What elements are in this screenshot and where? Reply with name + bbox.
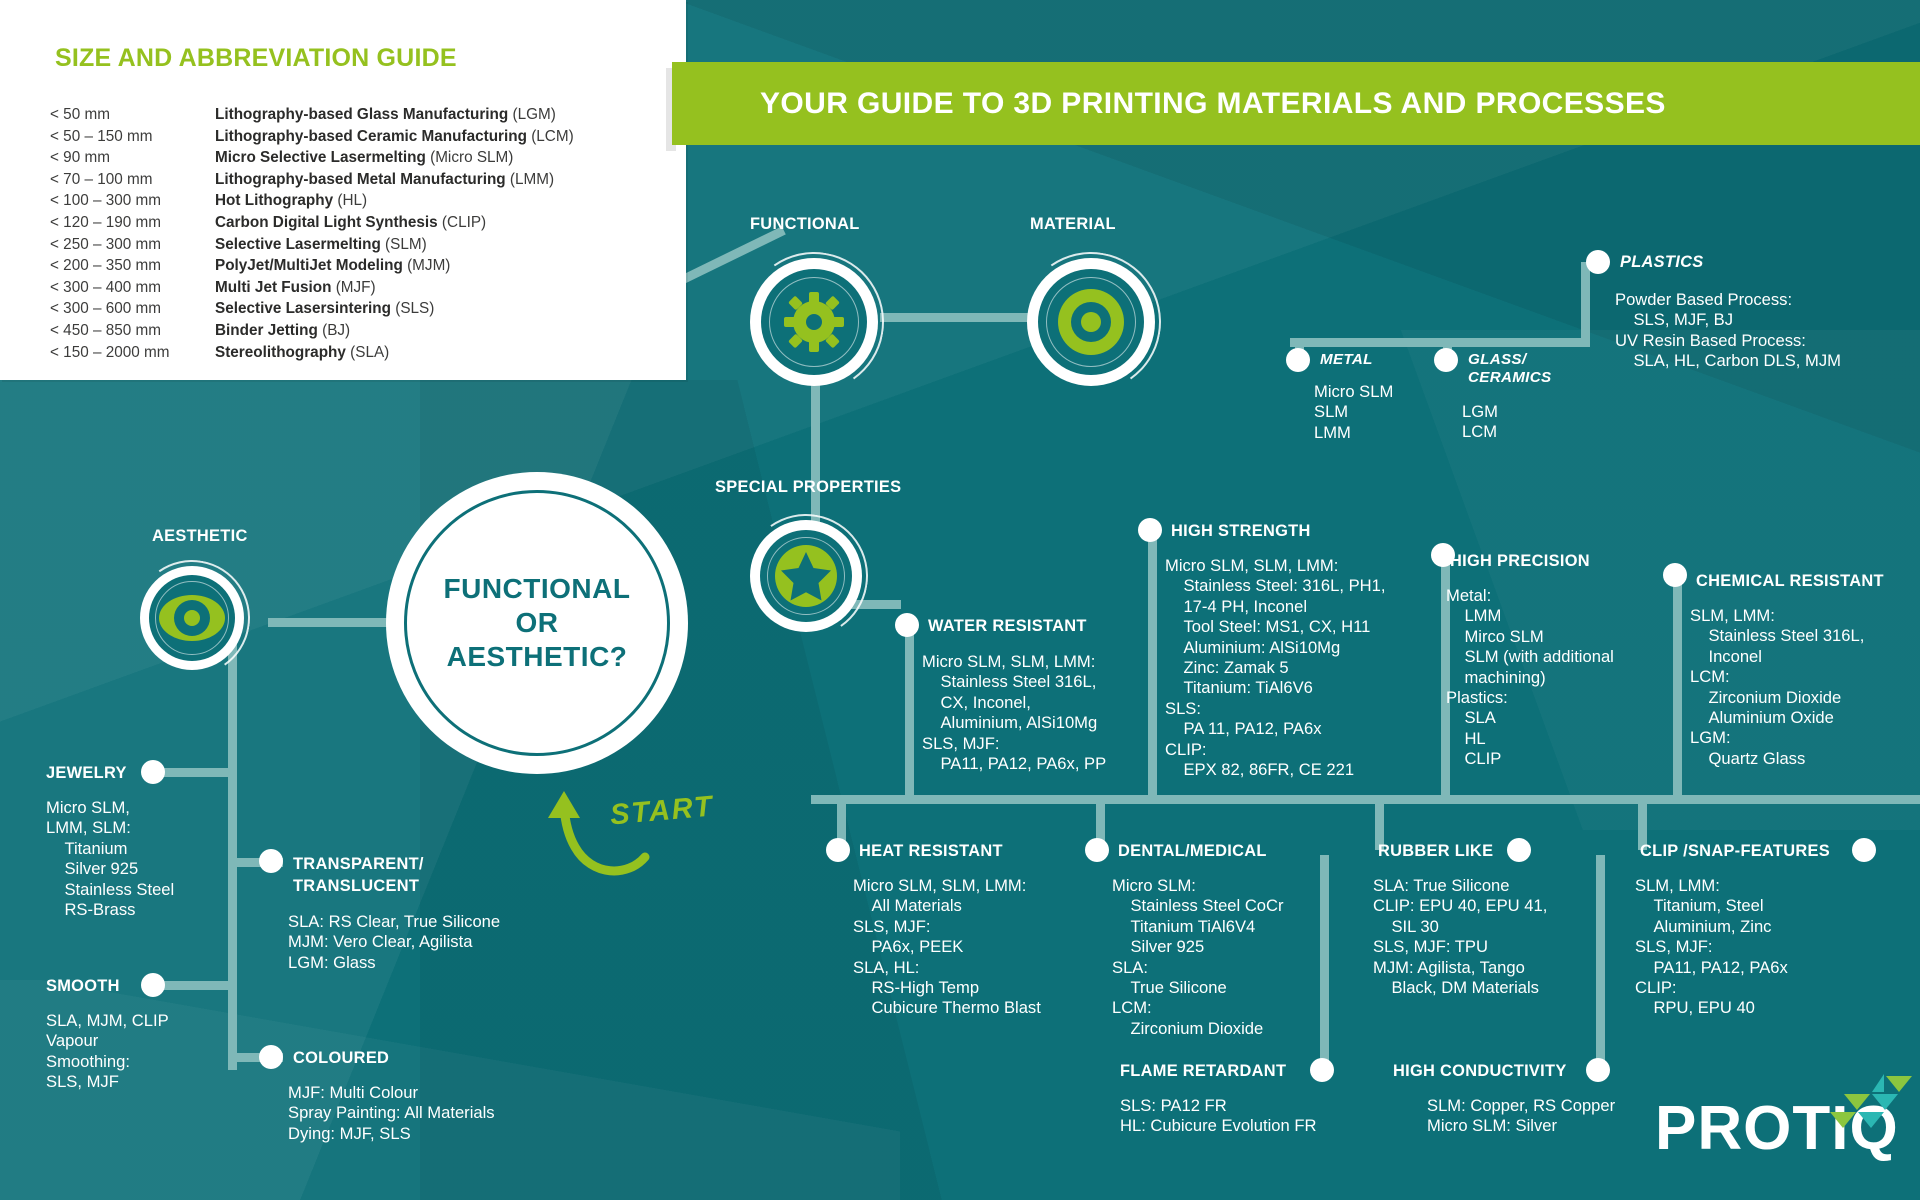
- infographic-canvas: SIZE AND ABBREVIATION GUIDE < 50 mmLitho…: [0, 0, 1920, 1200]
- text-coloured: MJF: Multi Colour Spray Painting: All Ma…: [288, 1083, 628, 1144]
- center-line-1: FUNCTIONAL: [386, 572, 688, 606]
- guide-name: Hot Lithography (HL): [215, 190, 367, 212]
- guide-row: < 300 – 400 mmMulti Jet Fusion (MJF): [50, 277, 574, 299]
- label-chemical-resistant: CHEMICAL RESISTANT: [1696, 572, 1884, 591]
- label-special-properties: SPECIAL PROPERTIES: [715, 478, 901, 497]
- guide-name: Lithography-based Metal Manufacturing (L…: [215, 169, 554, 191]
- label-smooth: SMOOTH: [46, 977, 120, 996]
- eye-icon: [158, 592, 226, 649]
- guide-title: SIZE AND ABBREVIATION GUIDE: [55, 44, 457, 73]
- star-icon: [772, 542, 840, 615]
- guide-size: < 50 – 150 mm: [50, 126, 215, 148]
- dot-coloured[interactable]: [259, 1045, 283, 1069]
- label-coloured: COLOURED: [293, 1049, 389, 1068]
- connector-jewelry: [155, 768, 235, 777]
- node-functional[interactable]: [750, 258, 878, 386]
- guide-size: < 150 – 2000 mm: [50, 342, 215, 364]
- label-high-strength: HIGH STRENGTH: [1171, 522, 1311, 541]
- guide-row: < 50 mmLithography-based Glass Manufactu…: [50, 104, 574, 126]
- guide-row: < 120 – 190 mmCarbon Digital Light Synth…: [50, 212, 574, 234]
- page-title: YOUR GUIDE TO 3D PRINTING MATERIALS AND …: [760, 87, 1666, 121]
- label-high-precision: HIGH PRECISION: [1450, 552, 1590, 571]
- connector-plastics-riser: [1581, 262, 1590, 342]
- dot-high-strength[interactable]: [1138, 518, 1162, 542]
- label-flame-retardant: FLAME RETARDANT: [1120, 1062, 1286, 1081]
- target-icon: [1055, 286, 1127, 363]
- guide-size: < 250 – 300 mm: [50, 234, 215, 256]
- text-water-resistant: Micro SLM, SLM, LMM: Stainless Steel 316…: [922, 652, 1202, 774]
- node-material[interactable]: [1027, 258, 1155, 386]
- brand-logo-mark: [1828, 1072, 1918, 1135]
- connector-riser-water: [905, 630, 914, 800]
- label-glass-ceramics: GLASS/ CERAMICS: [1468, 351, 1551, 387]
- header-banner: YOUR GUIDE TO 3D PRINTING MATERIALS AND …: [672, 62, 1920, 145]
- connector-functional-material: [880, 313, 1030, 322]
- text-rubber-like: SLA: True Silicone CLIP: EPU 40, EPU 41,…: [1373, 876, 1643, 998]
- label-rubber-like: RUBBER LIKE: [1378, 842, 1493, 861]
- center-line-2: OR: [386, 606, 688, 640]
- dot-heat-resistant[interactable]: [826, 838, 850, 862]
- guide-row: < 300 – 600 mmSelective Lasersintering (…: [50, 298, 574, 320]
- guide-name: Lithography-based Glass Manufacturing (L…: [215, 104, 556, 126]
- label-clip-snap-features: CLIP /SNAP-FEATURES: [1640, 842, 1830, 861]
- guide-size: < 300 – 600 mm: [50, 298, 215, 320]
- guide-size: < 100 – 300 mm: [50, 190, 215, 212]
- guide-name: Stereolithography (SLA): [215, 342, 389, 364]
- label-metal: METAL: [1320, 351, 1373, 368]
- guide-size: < 120 – 190 mm: [50, 212, 215, 234]
- guide-name: Carbon Digital Light Synthesis (CLIP): [215, 212, 486, 234]
- text-smooth: SLA, MJM, CLIP Vapour Smoothing: SLS, MJ…: [46, 1011, 266, 1093]
- label-material: MATERIAL: [1030, 215, 1116, 234]
- dot-high-conductivity[interactable]: [1586, 1058, 1610, 1082]
- gear-icon: [784, 292, 844, 352]
- guide-row: < 90 mmMicro Selective Lasermelting (Mic…: [50, 147, 574, 169]
- guide-name: Multi Jet Fusion (MJF): [215, 277, 376, 299]
- dot-rubber-like[interactable]: [1507, 838, 1531, 862]
- node-aesthetic[interactable]: [140, 566, 244, 670]
- connector-special-bus: [811, 795, 1920, 804]
- text-glass-ceramics: LGM LCM: [1462, 402, 1612, 443]
- text-jewelry: Micro SLM, LMM, SLM: Titanium Silver 925…: [46, 798, 266, 920]
- label-plastics: PLASTICS: [1620, 253, 1703, 272]
- guide-row: < 250 – 300 mmSelective Lasermelting (SL…: [50, 234, 574, 256]
- guide-size: < 450 – 850 mm: [50, 320, 215, 342]
- dot-glass-ceramics[interactable]: [1434, 348, 1458, 372]
- label-water-resistant: WATER RESISTANT: [928, 617, 1087, 636]
- center-question-text: FUNCTIONAL OR AESTHETIC?: [386, 572, 688, 674]
- guide-row: < 50 – 150 mmLithography-based Ceramic M…: [50, 126, 574, 148]
- connector-material-bus: [1290, 338, 1590, 347]
- guide-size: < 50 mm: [50, 104, 215, 126]
- dot-water-resistant[interactable]: [895, 613, 919, 637]
- dot-chemical-resistant[interactable]: [1663, 563, 1687, 587]
- guide-size: < 200 – 350 mm: [50, 255, 215, 277]
- guide-row: < 200 – 350 mmPolyJet/MultiJet Modeling …: [50, 255, 574, 277]
- size-abbreviation-guide-card: SIZE AND ABBREVIATION GUIDE < 50 mmLitho…: [0, 0, 686, 380]
- label-aesthetic: AESTHETIC: [152, 527, 248, 546]
- label-jewelry: JEWELRY: [46, 764, 127, 783]
- label-transparent: TRANSPARENT/ TRANSLUCENT: [293, 853, 424, 897]
- dot-dental-medical[interactable]: [1085, 838, 1109, 862]
- guide-name: Selective Lasermelting (SLM): [215, 234, 427, 256]
- center-question-circle[interactable]: FUNCTIONAL OR AESTHETIC?: [386, 472, 688, 774]
- dot-smooth[interactable]: [141, 973, 165, 997]
- label-heat-resistant: HEAT RESISTANT: [859, 842, 1003, 861]
- guide-name: Selective Lasersintering (SLS): [215, 298, 434, 320]
- center-line-3: AESTHETIC?: [386, 640, 688, 674]
- dot-plastics[interactable]: [1586, 250, 1610, 274]
- connector-smooth: [155, 981, 235, 990]
- guide-name: Binder Jetting (BJ): [215, 320, 350, 342]
- text-dental-medical: Micro SLM: Stainless Steel CoCr Titanium…: [1112, 876, 1382, 1039]
- text-transparent: SLA: RS Clear, True Silicone MJM: Vero C…: [288, 912, 628, 973]
- guide-name: Micro Selective Lasermelting (Micro SLM): [215, 147, 513, 169]
- label-functional: FUNCTIONAL: [750, 215, 860, 234]
- text-flame-retardant: SLS: PA12 FR HL: Cubicure Evolution FR: [1120, 1096, 1440, 1137]
- guide-size: < 70 – 100 mm: [50, 169, 215, 191]
- guide-table: < 50 mmLithography-based Glass Manufactu…: [50, 104, 574, 363]
- guide-name: PolyJet/MultiJet Modeling (MJM): [215, 255, 450, 277]
- label-high-conductivity: HIGH CONDUCTIVITY: [1393, 1062, 1567, 1081]
- dot-jewelry[interactable]: [141, 760, 165, 784]
- node-special-properties[interactable]: [750, 520, 862, 632]
- dot-clip-snap-features[interactable]: [1852, 838, 1876, 862]
- dot-flame-retardant[interactable]: [1310, 1058, 1334, 1082]
- guide-row: < 100 – 300 mmHot Lithography (HL): [50, 190, 574, 212]
- guide-row: < 150 – 2000 mmStereolithography (SLA): [50, 342, 574, 364]
- guide-name: Lithography-based Ceramic Manufacturing …: [215, 126, 574, 148]
- label-dental-medical: DENTAL/MEDICAL: [1118, 842, 1267, 861]
- text-clip-snap-features: SLM, LMM: Titanium, Steel Aluminium, Zin…: [1635, 876, 1915, 1019]
- dot-transparent[interactable]: [259, 849, 283, 873]
- guide-size: < 300 – 400 mm: [50, 277, 215, 299]
- text-metal: Micro SLM SLM LMM: [1314, 382, 1464, 443]
- guide-size: < 90 mm: [50, 147, 215, 169]
- connector-center-aesthetic: [268, 618, 393, 627]
- dot-metal[interactable]: [1286, 348, 1310, 372]
- guide-row: < 450 – 850 mmBinder Jetting (BJ): [50, 320, 574, 342]
- text-chemical-resistant: SLM, LMM: Stainless Steel 316L, Inconel …: [1690, 606, 1920, 769]
- text-high-strength: Micro SLM, SLM, LMM: Stainless Steel: 31…: [1165, 556, 1465, 780]
- text-plastics: Powder Based Process: SLS, MJF, BJ UV Re…: [1615, 290, 1915, 372]
- text-heat-resistant: Micro SLM, SLM, LMM: All Materials SLS, …: [853, 876, 1143, 1019]
- text-high-precision: Metal: LMM Mirco SLM SLM (with additiona…: [1446, 586, 1696, 770]
- guide-row: < 70 – 100 mmLithography-based Metal Man…: [50, 169, 574, 191]
